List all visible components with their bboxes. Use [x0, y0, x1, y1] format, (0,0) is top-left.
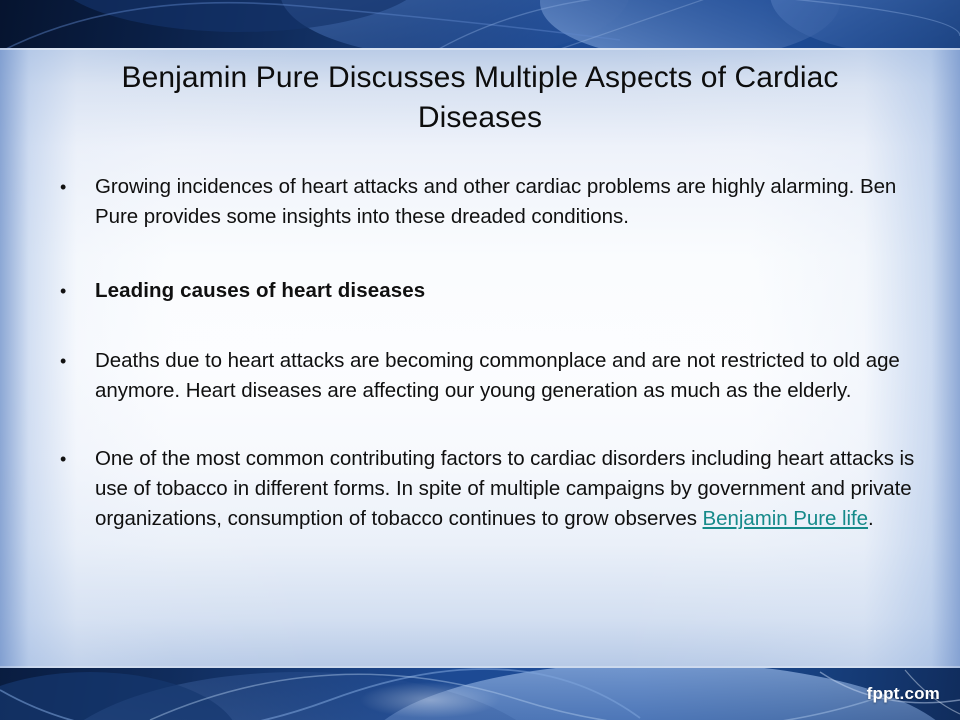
bullet-text-with-link: One of the most common contributing fact…	[95, 444, 920, 534]
slide-title: Benjamin Pure Discusses Multiple Aspects…	[60, 58, 900, 138]
benjamin-pure-life-link[interactable]: Benjamin Pure life	[703, 507, 868, 530]
fppt-watermark: fppt.com	[867, 684, 940, 704]
bullet-point-icon: •	[52, 172, 95, 202]
list-item: • Growing incidences of heart attacks an…	[52, 172, 920, 232]
spacer	[52, 306, 920, 346]
list-item: • Leading causes of heart diseases	[52, 276, 920, 306]
bullet-point-icon: •	[52, 276, 95, 306]
bullet-list: • Growing incidences of heart attacks an…	[52, 172, 920, 534]
bullet-text: Deaths due to heart attacks are becoming…	[95, 346, 920, 406]
bullet-point-icon: •	[52, 346, 95, 376]
bullet-text: Growing incidences of heart attacks and …	[95, 172, 920, 232]
panel-bottom-edge	[0, 666, 960, 668]
spacer	[52, 406, 920, 444]
bullet-text-tail: .	[868, 507, 874, 530]
bullet-point-icon: •	[52, 444, 95, 474]
panel-top-edge	[0, 48, 960, 50]
list-item: • One of the most common contributing fa…	[52, 444, 920, 534]
list-item: • Deaths due to heart attacks are becomi…	[52, 346, 920, 406]
bullet-text-heading: Leading causes of heart diseases	[95, 276, 920, 306]
spacer	[52, 232, 920, 276]
slide-canvas: Benjamin Pure Discusses Multiple Aspects…	[0, 0, 960, 720]
